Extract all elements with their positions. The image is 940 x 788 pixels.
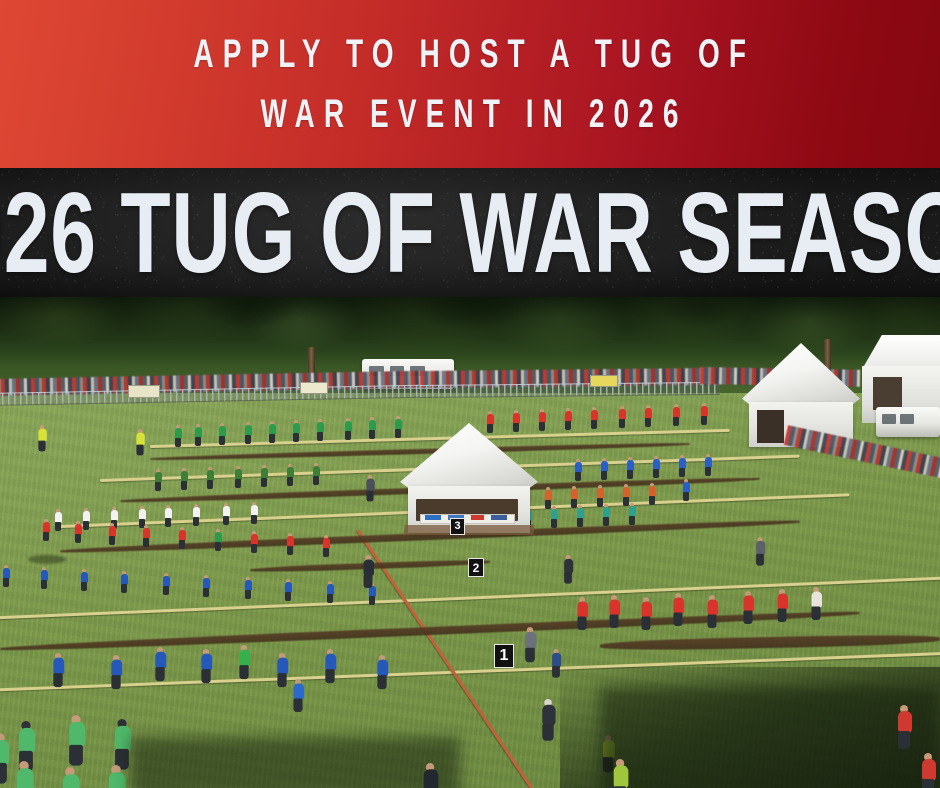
poster-image: APPLY TO HOST A TUG OF WAR EVENT IN 2026… xyxy=(0,0,940,788)
lane-marker-3: 3 xyxy=(450,518,465,535)
marquee-opening xyxy=(757,410,784,443)
cast-shadow xyxy=(130,737,460,788)
marquee-roof xyxy=(400,423,538,490)
van-window xyxy=(900,414,914,424)
marquee-decking xyxy=(403,525,534,535)
title-band: 2026 TUG OF WAR SEASON xyxy=(0,168,940,297)
marquee-opening xyxy=(873,377,902,410)
sponsor-banner xyxy=(471,515,483,520)
banner-headline-line-2: WAR EVENT IN 2026 xyxy=(252,85,688,143)
marquee-roof xyxy=(742,343,860,406)
sponsor-board xyxy=(300,382,328,394)
marquee-roof xyxy=(862,335,940,369)
lane-marker-1: 1 xyxy=(494,644,514,668)
centre-pagoda-marquee xyxy=(400,423,538,531)
top-banner: APPLY TO HOST A TUG OF WAR EVENT IN 2026 xyxy=(0,0,940,168)
sponsor-banner xyxy=(491,515,507,520)
sponsor-board xyxy=(590,375,618,387)
sponsor-banner xyxy=(425,515,441,520)
event-photograph: 3 2 1 xyxy=(0,297,940,788)
lane-marker-2: 2 xyxy=(468,558,484,577)
van-window xyxy=(882,414,896,424)
banner-headline-line-1: APPLY TO HOST A TUG OF xyxy=(185,25,756,83)
season-title: 2026 TUG OF WAR SEASON xyxy=(125,168,816,297)
sponsor-board xyxy=(128,385,160,398)
white-van xyxy=(876,407,940,437)
banner-text-block: APPLY TO HOST A TUG OF WAR EVENT IN 2026 xyxy=(0,0,940,168)
